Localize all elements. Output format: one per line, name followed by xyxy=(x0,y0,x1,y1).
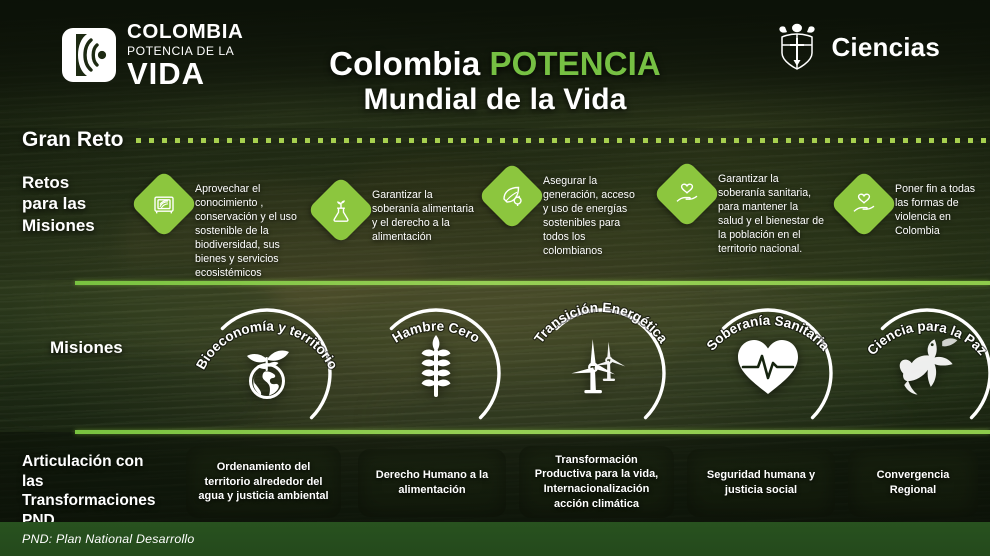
transformaciones-list: Ordenamiento del territorio alrededor de… xyxy=(0,446,990,520)
mission-item[interactable]: Hambre Cero xyxy=(354,288,518,428)
reto-item: Garantizar la soberanía alimentaria y el… xyxy=(317,186,476,244)
colombia-coat-of-arms-shield-icon xyxy=(775,22,819,72)
biodiversity-panel-icon xyxy=(130,170,198,238)
logo-line-colombia: COLOMBIA xyxy=(127,22,243,43)
transformacion-text: Derecho Humano a la alimentación xyxy=(366,468,498,497)
retos-list: Aprovechar el conocimiento , conservació… xyxy=(140,152,990,280)
reto-item: Aprovechar el conocimiento , conservació… xyxy=(140,180,308,281)
mission-item[interactable]: Ciencia para la Paz xyxy=(845,288,990,428)
transformacion-card[interactable]: Convergencia Regional xyxy=(848,449,978,517)
reto-text: Asegurar la generación, acceso y uso de … xyxy=(543,172,643,258)
gran-reto-label: Gran Reto xyxy=(22,128,124,152)
reto-item: Garantizar la soberanía sanitaria, para … xyxy=(663,170,826,256)
transformacion-text: Seguridad humana y justicia social xyxy=(695,468,827,497)
misiones-list: Bioeconomía y territorio xyxy=(0,288,990,428)
wind-turbines-icon xyxy=(564,329,638,403)
dove-icon xyxy=(890,329,964,403)
gran-reto-row: Gran Reto xyxy=(0,128,990,152)
footer-note: PND: Plan National Desarrollo xyxy=(22,532,194,546)
transformacion-card[interactable]: Seguridad humana y justicia social xyxy=(687,449,835,517)
heart-pulse-icon xyxy=(731,329,805,403)
dotted-rule xyxy=(136,138,986,143)
reto-item: Asegurar la generación, acceso y uso de … xyxy=(488,172,643,258)
transformacion-text: Convergencia Regional xyxy=(856,468,970,497)
transformacion-text: Ordenamiento del territorio alrededor de… xyxy=(194,460,333,504)
flask-plant-icon xyxy=(307,176,375,244)
wheat-icon xyxy=(399,329,473,403)
divider-retos-misiones xyxy=(75,281,990,285)
mission-item[interactable]: Transición Energética xyxy=(519,288,683,428)
transformacion-text: Transformación Productiva para la vida, … xyxy=(527,453,666,511)
leaf-plug-icon xyxy=(478,162,546,230)
title-line-2: Mundial de la Vida xyxy=(0,83,990,117)
header: COLOMBIA POTENCIA DE LA VIDA Colombia PO… xyxy=(0,0,990,128)
title-potencia: POTENCIA xyxy=(490,45,661,82)
infographic-canvas: COLOMBIA POTENCIA DE LA VIDA Colombia PO… xyxy=(0,0,990,556)
reto-text: Garantizar la soberanía alimentaria y el… xyxy=(372,186,476,244)
transformacion-card[interactable]: Ordenamiento del territorio alrededor de… xyxy=(186,446,341,518)
reto-text: Poner fin a todas las formas de violenci… xyxy=(895,180,987,238)
transformacion-card[interactable]: Transformación Productiva para la vida, … xyxy=(519,446,674,518)
reto-item: Poner fin a todas las formas de violenci… xyxy=(840,180,987,238)
footer-bar: PND: Plan National Desarrollo xyxy=(0,522,990,556)
title-colombia: Colombia xyxy=(329,45,489,82)
mission-item[interactable]: Bioeconomía y territorio xyxy=(185,288,349,428)
hand-heart-icon xyxy=(653,160,721,228)
reto-text: Garantizar la soberanía sanitaria, para … xyxy=(718,170,826,256)
mission-item[interactable]: Soberanía Sanitaria xyxy=(686,288,850,428)
reto-text: Aprovechar el conocimiento , conservació… xyxy=(195,180,308,281)
ciencias-label: Ciencias xyxy=(831,32,940,63)
globe-sprout-icon xyxy=(230,329,304,403)
ciencias-brand: Ciencias xyxy=(775,22,940,72)
hand-heart-icon xyxy=(830,170,898,238)
transformacion-card[interactable]: Derecho Humano a la alimentación xyxy=(358,449,506,517)
